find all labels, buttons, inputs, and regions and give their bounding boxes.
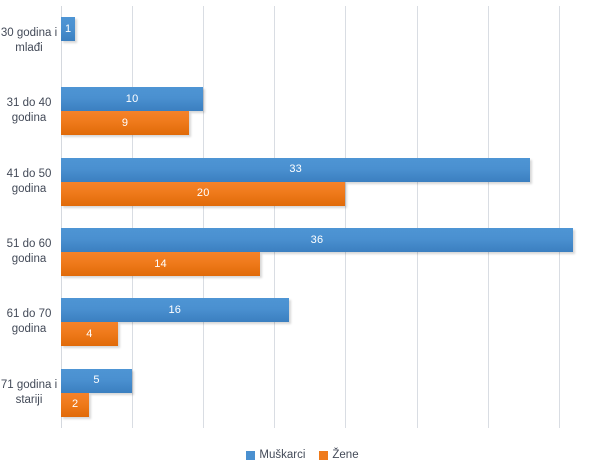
legend-item[interactable]: Muškarci [246,450,305,462]
bar[interactable]: 5 [61,369,132,393]
bar[interactable]: 4 [61,322,118,346]
chart-legend: MuškarciŽene [0,450,605,462]
category-group: 52 [61,358,590,428]
category-group: 3320 [61,147,590,217]
category-label: 51 do 60 godina [0,217,58,287]
bar-value-label: 20 [61,182,345,206]
category-group: 109 [61,76,590,146]
bar-rows: 11093320361416452 [61,6,590,428]
category-label: 30 godina i mlađi [0,6,58,76]
bar-value-label: 2 [61,393,89,417]
bar-value-label: 4 [61,322,118,346]
bar[interactable]: 33 [61,158,530,182]
bar-value-label: 5 [61,369,132,393]
bar-value-label: 10 [61,87,203,111]
bar[interactable]: 14 [61,252,260,276]
legend-swatch-orange-icon [319,451,328,460]
bar[interactable]: 20 [61,182,345,206]
bar[interactable]: 36 [61,228,573,252]
legend-label: Žene [332,450,358,462]
bar-value-label: 36 [61,228,573,252]
category-label: 41 do 50 godina [0,147,58,217]
category-group: 1 [61,6,590,76]
bar-value-label: 14 [61,252,260,276]
legend-label: Muškarci [259,450,305,462]
bar-value-label: 16 [61,298,289,322]
legend-swatch-blue-icon [246,451,255,460]
bar[interactable]: 16 [61,298,289,322]
bar[interactable]: 9 [61,111,189,135]
bar-chart: 30 godina i mlađi31 do 40 godina41 do 50… [0,0,605,476]
category-label: 71 godina i stariji [0,358,58,428]
category-group: 3614 [61,217,590,287]
category-group: 164 [61,287,590,357]
category-label: 61 do 70 godina [0,287,58,357]
bar[interactable]: 2 [61,393,89,417]
bar-value-label: 9 [61,111,189,135]
bar-value-label: 33 [61,158,530,182]
plot-area: 11093320361416452 [61,6,590,428]
bar-value-label: 1 [61,17,75,41]
bar[interactable]: 1 [61,17,75,41]
category-axis: 30 godina i mlađi31 do 40 godina41 do 50… [0,6,58,428]
category-label: 31 do 40 godina [0,76,58,146]
legend-item[interactable]: Žene [319,450,358,462]
bar[interactable]: 10 [61,87,203,111]
